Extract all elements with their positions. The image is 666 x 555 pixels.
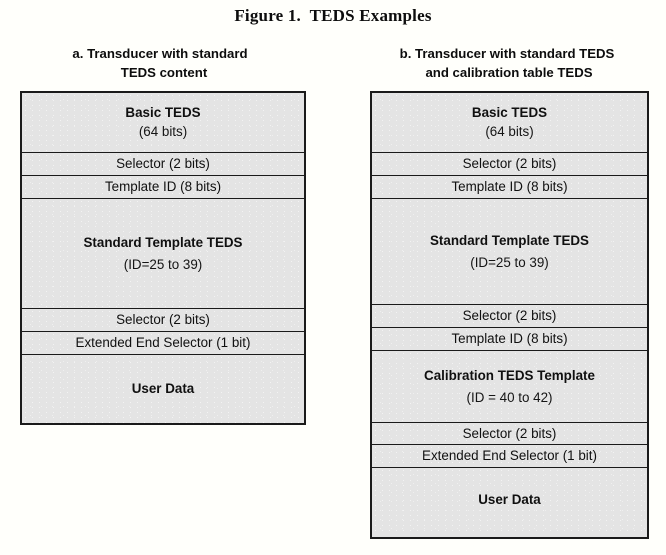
block-title: Selector (2 bits) [463,425,557,443]
block-title: Extended End Selector (1 bit) [76,334,251,352]
teds-block-calibration-teds-template: Calibration TEDS Template (ID = 40 to 42… [372,351,647,423]
teds-block-template-id-1: Template ID (8 bits) [372,176,647,199]
block-title: Selector (2 bits) [463,307,557,325]
block-subtitle: (ID = 40 to 42) [467,389,553,407]
teds-block-selector-2: Selector (2 bits) [22,309,304,332]
teds-block-extended-end-selector: Extended End Selector (1 bit) [22,332,304,355]
teds-block-selector-2: Selector (2 bits) [372,305,647,328]
teds-block-standard-template-teds: Standard Template TEDS (ID=25 to 39) [372,199,647,305]
block-title: Template ID (8 bits) [105,178,221,196]
teds-block-standard-template-teds: Standard Template TEDS (ID=25 to 39) [22,199,304,309]
block-title: Standard Template TEDS [430,232,589,250]
column-a-caption-line-2: TEDS content [20,63,306,82]
block-title: Calibration TEDS Template [424,367,595,385]
teds-block-user-data: User Data [372,468,647,531]
block-title: Template ID (8 bits) [451,330,567,348]
block-title: User Data [132,380,195,398]
teds-stack-standard-plus-calibration: Basic TEDS (64 bits) Selector (2 bits) T… [370,91,649,539]
column-b-caption-line-1: b. Transducer with standard TEDS [366,44,652,63]
teds-block-template-id-1: Template ID (8 bits) [22,176,304,199]
figure-title: Figure 1. TEDS Examples [0,6,666,26]
teds-stack-standard: Basic TEDS (64 bits) Selector (2 bits) T… [20,91,306,425]
block-subtitle: (ID=25 to 39) [470,254,549,272]
block-title: Extended End Selector (1 bit) [422,447,597,465]
column-a-caption-line-1: a. Transducer with standard [20,44,306,63]
teds-block-extended-end-selector: Extended End Selector (1 bit) [372,445,647,468]
column-b-caption-line-2: and calibration table TEDS [366,63,652,82]
block-title: Selector (2 bits) [116,311,210,329]
block-title: Basic TEDS [125,104,200,122]
teds-block-basic-teds: Basic TEDS (64 bits) [372,93,647,153]
teds-block-selector-1: Selector (2 bits) [372,153,647,176]
teds-block-template-id-2: Template ID (8 bits) [372,328,647,351]
teds-block-selector-1: Selector (2 bits) [22,153,304,176]
teds-block-basic-teds: Basic TEDS (64 bits) [22,93,304,153]
teds-block-user-data: User Data [22,355,304,423]
block-title: User Data [478,491,541,509]
block-title: Selector (2 bits) [463,155,557,173]
block-subtitle: (ID=25 to 39) [124,256,203,274]
block-subtitle: (64 bits) [139,123,187,141]
block-subtitle: (64 bits) [485,123,533,141]
block-title: Basic TEDS [472,104,547,122]
block-title: Standard Template TEDS [84,234,243,252]
block-title: Template ID (8 bits) [451,178,567,196]
block-title: Selector (2 bits) [116,155,210,173]
teds-block-selector-3: Selector (2 bits) [372,423,647,445]
column-b-caption: b. Transducer with standard TEDS and cal… [366,44,652,82]
column-a-caption: a. Transducer with standard TEDS content [20,44,306,82]
